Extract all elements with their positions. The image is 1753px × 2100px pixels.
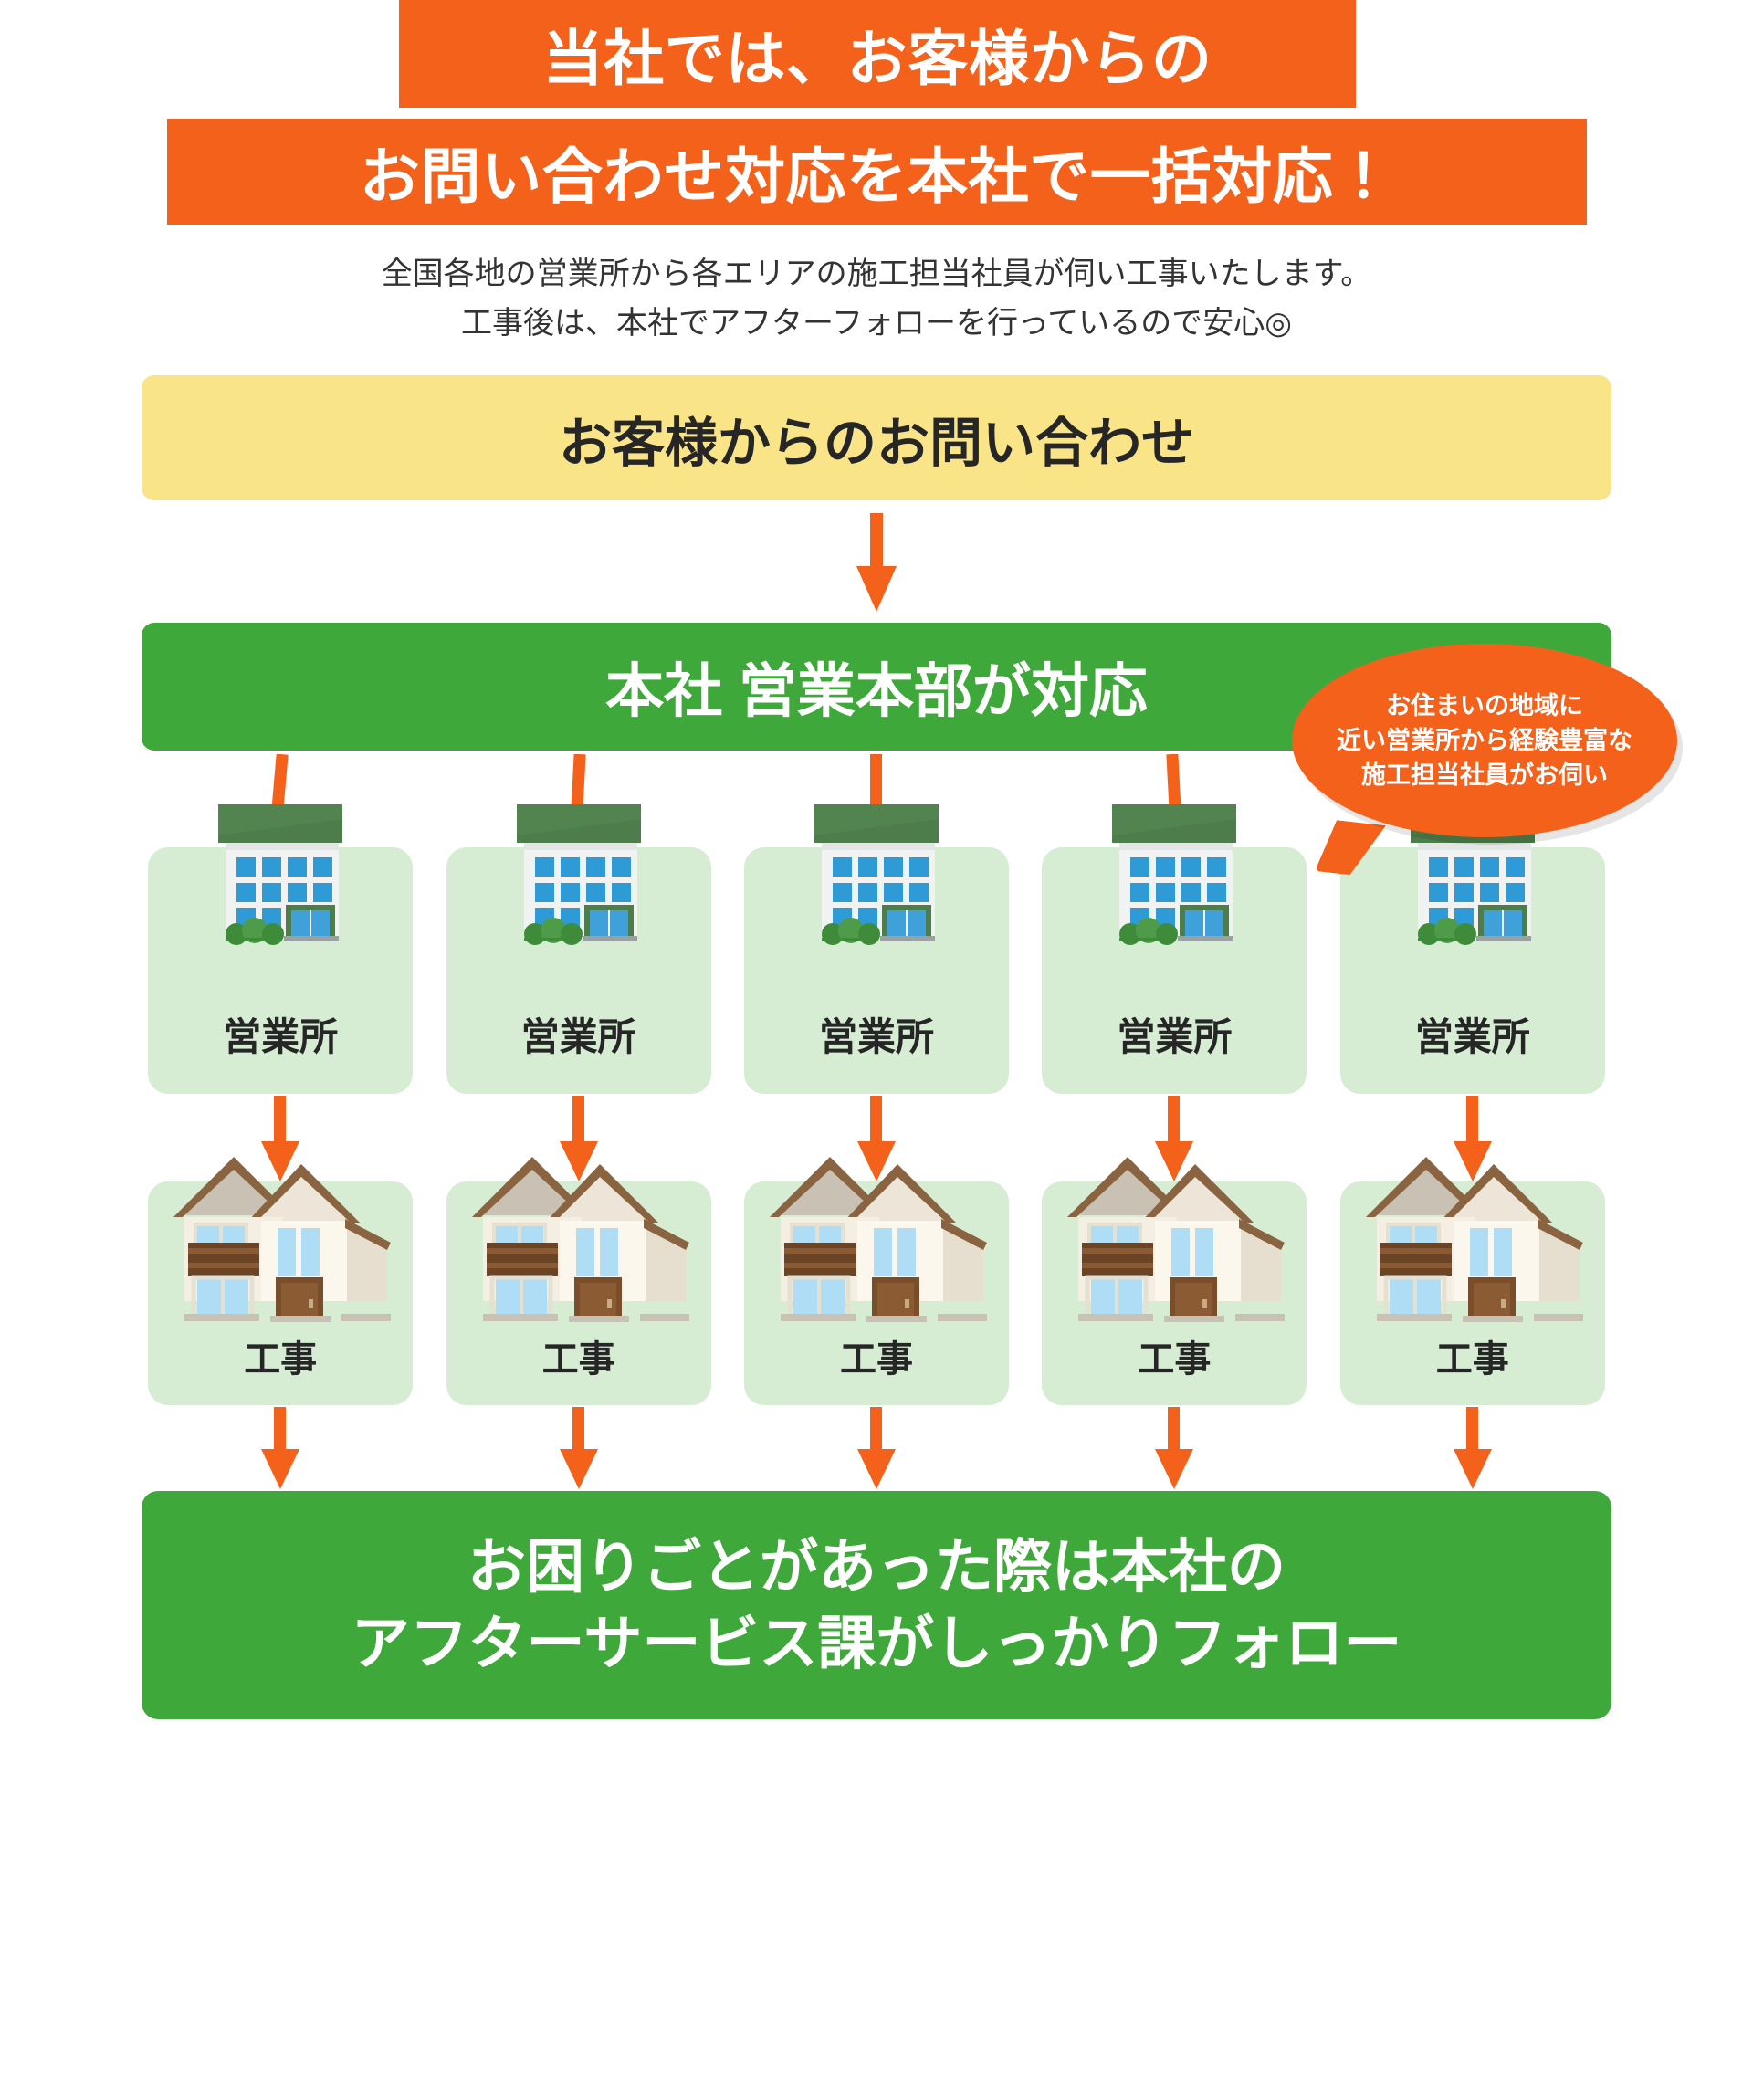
house-to-footer-arrows	[142, 1407, 1611, 1491]
header-banners: 当社では、お客様からの お問い合わせ対応を本社で一括対応！	[0, 0, 1753, 225]
down-arrow-icon	[1152, 1407, 1196, 1491]
office-card-label: 営業所	[1117, 1006, 1232, 1062]
down-arrow-icon	[258, 1407, 302, 1491]
construction-card-label: 工事	[542, 1329, 615, 1382]
footer-arrow-col-4	[1035, 1407, 1313, 1491]
footer-arrow-col-5	[1334, 1407, 1611, 1491]
office-card-label: 営業所	[819, 1006, 934, 1062]
footer-line-2: アフターサービス課がしっかりフォロー	[352, 1605, 1402, 1682]
house-icon	[1056, 1140, 1292, 1328]
speech-bubble: お住まいの地域に 近い営業所から経験豊富な 施工担当社員がお伺い	[1292, 644, 1677, 837]
down-arrow-icon	[855, 1407, 898, 1491]
bubble-line-3: 施工担当社員がお伺い	[1361, 758, 1608, 793]
house-cards-row: 工事	[142, 1181, 1611, 1405]
construction-card: 工事	[148, 1181, 413, 1405]
house-col-2: 工事	[439, 1181, 717, 1405]
infographic-page: 当社では、お客様からの お問い合わせ対応を本社で一括対応！ 全国各地の営業所から…	[0, 0, 1753, 2100]
down-arrow-icon	[1451, 1407, 1495, 1491]
bubble-line-2: 近い営業所から経験豊富な	[1337, 723, 1632, 758]
customer-inquiry-box: お客様からのお問い合わせ	[142, 375, 1611, 500]
office-building-icon	[488, 804, 670, 1001]
office-building-icon	[189, 804, 372, 1001]
bubble-line-1: お住まいの地域に	[1386, 688, 1583, 723]
construction-card: 工事	[1340, 1181, 1605, 1405]
down-arrow-icon	[557, 1407, 601, 1491]
house-icon	[461, 1140, 697, 1328]
house-col-3: 工事	[738, 1181, 1015, 1405]
footer-arrow-col-2	[439, 1407, 717, 1491]
office-card: 営業所	[1340, 847, 1605, 1094]
headline-banner-line1: 当社では、お客様からの	[399, 0, 1356, 108]
office-card: 営業所	[744, 847, 1009, 1094]
office-col-1: 営業所	[142, 847, 419, 1094]
office-card: 営業所	[446, 847, 711, 1094]
lead-line-1: 全国各地の営業所から各エリアの施工担当社員が伺い工事いたします。	[0, 250, 1753, 299]
construction-card: 工事	[1042, 1181, 1307, 1405]
construction-card-label: 工事	[244, 1329, 317, 1382]
construction-card-label: 工事	[1138, 1329, 1211, 1382]
construction-card: 工事	[446, 1181, 711, 1405]
construction-card-label: 工事	[1436, 1329, 1509, 1382]
after-service-banner: お困りごとがあった際は本社の アフターサービス課がしっかりフォロー	[142, 1491, 1611, 1719]
office-card: 営業所	[1042, 847, 1307, 1094]
office-col-5: 営業所	[1334, 847, 1611, 1094]
office-col-2: 営業所	[439, 847, 717, 1094]
office-card-label: 営業所	[223, 1006, 338, 1062]
speech-bubble-body: お住まいの地域に 近い営業所から経験豊富な 施工担当社員がお伺い	[1292, 644, 1677, 837]
office-card: 営業所	[148, 847, 413, 1094]
office-cards-row: 営業所	[142, 847, 1611, 1094]
office-building-icon	[785, 804, 968, 1001]
office-building-icon	[1083, 804, 1265, 1001]
lead-line-2: 工事後は、本社でアフターフォローを行っているので安心◎	[0, 299, 1753, 349]
construction-card-label: 工事	[840, 1329, 913, 1382]
headline-banner-line2: お問い合わせ対応を本社で一括対応！	[167, 119, 1587, 225]
footer-line-1: お困りごとがあった際は本社の	[467, 1528, 1286, 1605]
office-col-4: 営業所	[1035, 847, 1313, 1094]
construction-card: 工事	[744, 1181, 1009, 1405]
office-col-3: 営業所	[738, 847, 1015, 1094]
office-card-label: 営業所	[521, 1006, 636, 1062]
house-icon	[1355, 1140, 1590, 1328]
house-col-1: 工事	[142, 1181, 419, 1405]
house-icon	[759, 1140, 994, 1328]
house-col-5: 工事	[1334, 1181, 1611, 1405]
footer-arrow-col-3	[738, 1407, 1015, 1491]
lead-paragraph: 全国各地の営業所から各エリアの施工担当社員が伺い工事いたします。 工事後は、本社…	[0, 250, 1753, 348]
office-card-label: 営業所	[1415, 1006, 1530, 1062]
house-icon	[163, 1140, 398, 1328]
footer-arrow-col-1	[142, 1407, 419, 1491]
house-col-4: 工事	[1035, 1181, 1313, 1405]
down-arrow-icon	[855, 513, 898, 614]
